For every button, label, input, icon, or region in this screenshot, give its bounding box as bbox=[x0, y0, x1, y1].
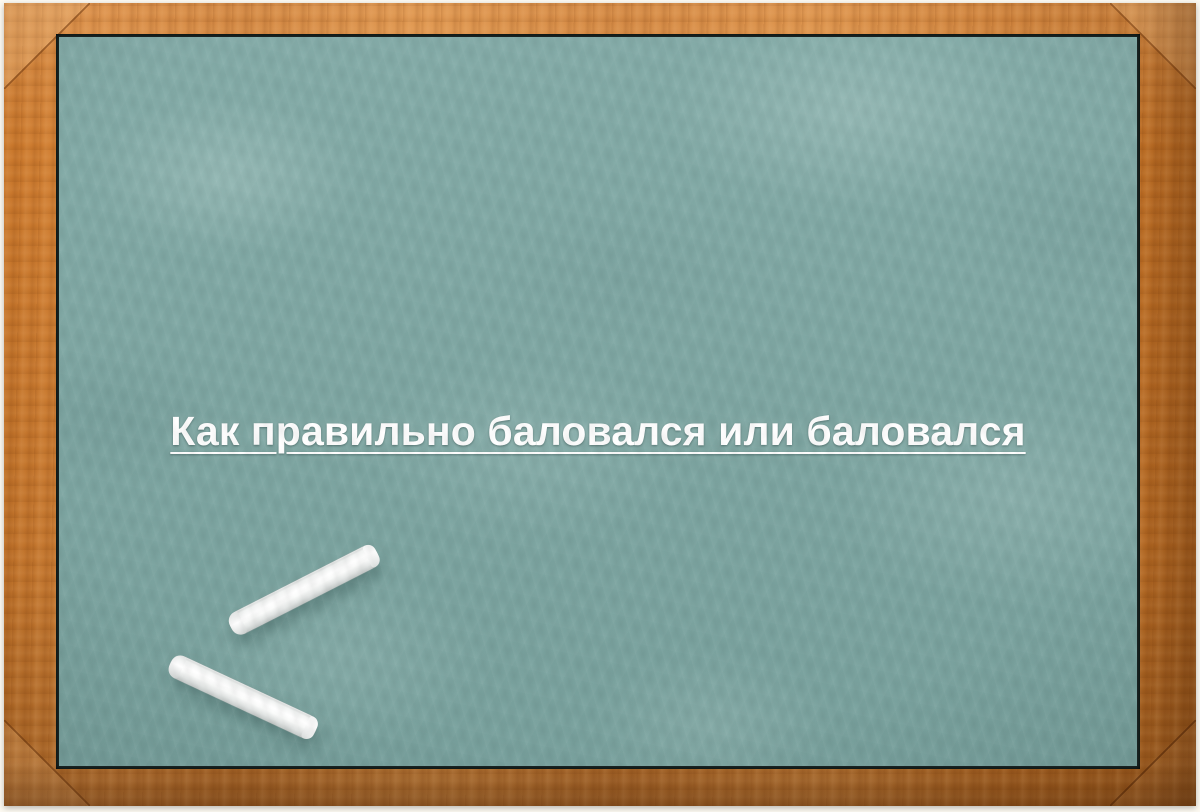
frame-right-rail-shading bbox=[1138, 3, 1196, 806]
chalkboard-vignette bbox=[59, 37, 1137, 766]
chalkboard-surface: Как правильно баловался или баловался bbox=[59, 37, 1137, 766]
chalk-stick-lower bbox=[165, 652, 320, 741]
headline-container: Как правильно баловался или баловался bbox=[59, 407, 1137, 455]
chalkboard-scene: Как правильно баловался или баловался bbox=[0, 0, 1200, 812]
page-title: Как правильно баловался или баловался bbox=[170, 407, 1025, 455]
chalk-stick-upper bbox=[225, 542, 382, 638]
chalkboard-inner-bevel: Как правильно баловался или баловался bbox=[56, 34, 1140, 769]
